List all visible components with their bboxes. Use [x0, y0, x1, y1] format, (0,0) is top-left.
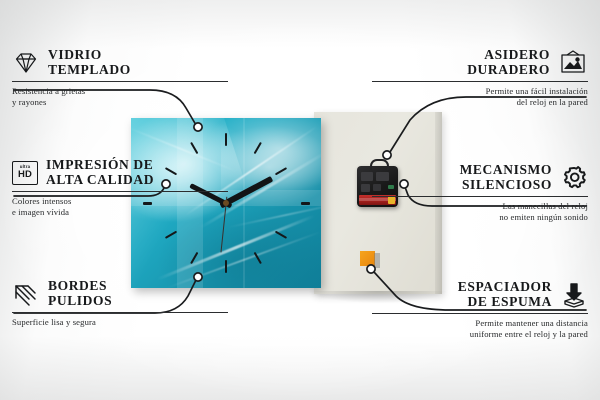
diamond-icon	[12, 51, 40, 75]
feature-vidrio-templado: VIDRIO TEMPLADO Resistencia a grietas y …	[12, 48, 228, 107]
feature-title: ASIDERO DURADERO	[372, 48, 550, 77]
connector-node-vidrio-templado	[194, 123, 202, 131]
hanging-picture-icon	[558, 50, 588, 76]
feature-espaciador-de-espuma: ESPACIADOR DE ESPUMA Permite mantener un…	[372, 280, 588, 339]
feature-subtitle: Permite mantener una distancia uniforme …	[372, 318, 588, 339]
feature-asidero-duradero: ASIDERO DURADERO Permite una fácil insta…	[372, 48, 588, 107]
feature-header: ultra HD IMPRESIÓN DE ALTA CALIDAD	[12, 158, 228, 187]
feature-bordes-pulidos: BORDES PULIDOS Superficie lisa y segura	[12, 279, 228, 328]
feature-title: BORDES PULIDOS	[48, 279, 112, 308]
feature-mecanismo-silencioso: MECANISMO SILENCIOSO Las manecillas del …	[372, 163, 588, 222]
infographic-canvas: VIDRIO TEMPLADO Resistencia a grietas y …	[0, 0, 600, 400]
feature-divider	[372, 313, 588, 314]
diagonal-lines-icon	[12, 282, 40, 306]
feature-title: ESPACIADOR DE ESPUMA	[372, 280, 552, 309]
feature-subtitle: Permite una fácil instalación del reloj …	[372, 86, 588, 107]
feature-impresion-alta-calidad: ultra HD IMPRESIÓN DE ALTA CALIDAD Color…	[12, 158, 228, 217]
feature-subtitle: Colores intensos e imagen vívida	[12, 196, 228, 217]
feature-divider	[12, 312, 228, 313]
connector-node-asidero	[383, 151, 391, 159]
feature-header: MECANISMO SILENCIOSO	[372, 163, 588, 192]
feature-title: MECANISMO SILENCIOSO	[372, 163, 552, 192]
gear-icon	[560, 165, 588, 191]
feature-divider	[12, 81, 228, 82]
feature-header: ESPACIADOR DE ESPUMA	[372, 280, 588, 309]
feature-divider	[12, 191, 228, 192]
feature-subtitle: Las manecillas del reloj no emiten ningú…	[372, 201, 588, 222]
feature-divider	[372, 81, 588, 82]
feature-header: ASIDERO DURADERO	[372, 48, 588, 77]
down-arrow-stack-icon	[560, 282, 588, 308]
feature-title: VIDRIO TEMPLADO	[48, 48, 131, 77]
feature-title: IMPRESIÓN DE ALTA CALIDAD	[46, 158, 154, 187]
connector-node-espaciador	[367, 265, 375, 273]
feature-header: VIDRIO TEMPLADO	[12, 48, 228, 77]
feature-subtitle: Resistencia a grietas y rayones	[12, 86, 228, 107]
feature-divider	[372, 196, 588, 197]
feature-subtitle: Superficie lisa y segura	[12, 317, 228, 328]
ultra-hd-badge-icon: ultra HD	[12, 161, 38, 185]
feature-header: BORDES PULIDOS	[12, 279, 228, 308]
